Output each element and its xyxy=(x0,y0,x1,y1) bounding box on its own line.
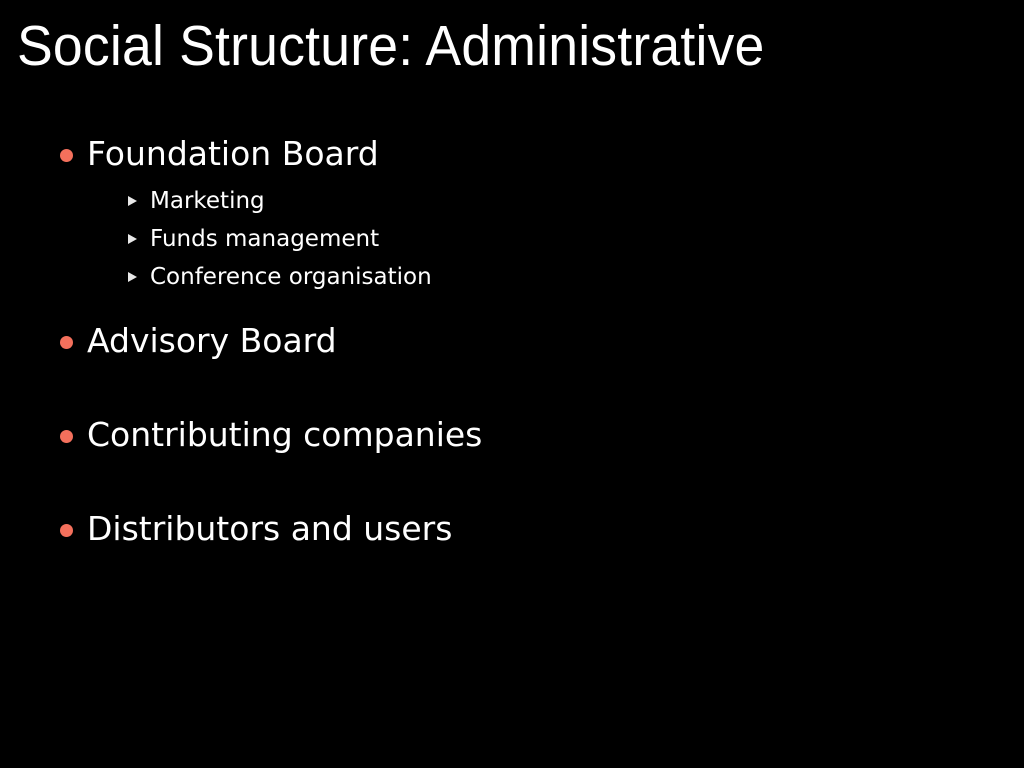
outline-item-foundation-board[interactable]: Foundation Board Marketing Funds managem… xyxy=(0,132,1024,296)
outline-item-label: Contributing companies xyxy=(87,415,482,454)
outline-spacer xyxy=(0,457,1024,507)
outline-item-contributing-companies[interactable]: Contributing companies xyxy=(0,413,1024,457)
slide-body-outline: Foundation Board Marketing Funds managem… xyxy=(0,132,1024,551)
outline-subitem-label: Marketing xyxy=(150,188,265,214)
outline-item-label: Foundation Board xyxy=(87,134,379,173)
outline-item-advisory-board[interactable]: Advisory Board xyxy=(0,319,1024,363)
outline-subitem-funds-management[interactable]: Funds management xyxy=(87,220,1024,258)
right-triangle-bullet-icon xyxy=(128,272,137,282)
filled-circle-bullet-icon xyxy=(60,149,73,162)
outline-spacer xyxy=(0,296,1024,319)
outline-subitem-label: Conference organisation xyxy=(150,264,432,290)
outline-item-label: Advisory Board xyxy=(87,321,337,360)
outline-item-distributors-and-users[interactable]: Distributors and users xyxy=(0,507,1024,551)
presentation-slide: Social Structure: Administrative Foundat… xyxy=(0,0,1024,768)
slide-title: Social Structure: Administrative xyxy=(17,12,948,80)
filled-circle-bullet-icon xyxy=(60,336,73,349)
outline-level2-list: Marketing Funds management Conference or… xyxy=(87,182,1024,296)
right-triangle-bullet-icon xyxy=(128,196,137,206)
filled-circle-bullet-icon xyxy=(60,430,73,443)
outline-item-label: Distributors and users xyxy=(87,509,452,548)
outline-subitem-conference-organisation[interactable]: Conference organisation xyxy=(87,258,1024,296)
outline-subitem-marketing[interactable]: Marketing xyxy=(87,182,1024,220)
filled-circle-bullet-icon xyxy=(60,524,73,537)
outline-subitem-label: Funds management xyxy=(150,226,379,252)
outline-level1-list: Foundation Board Marketing Funds managem… xyxy=(0,132,1024,551)
right-triangle-bullet-icon xyxy=(128,234,137,244)
outline-spacer xyxy=(0,363,1024,413)
